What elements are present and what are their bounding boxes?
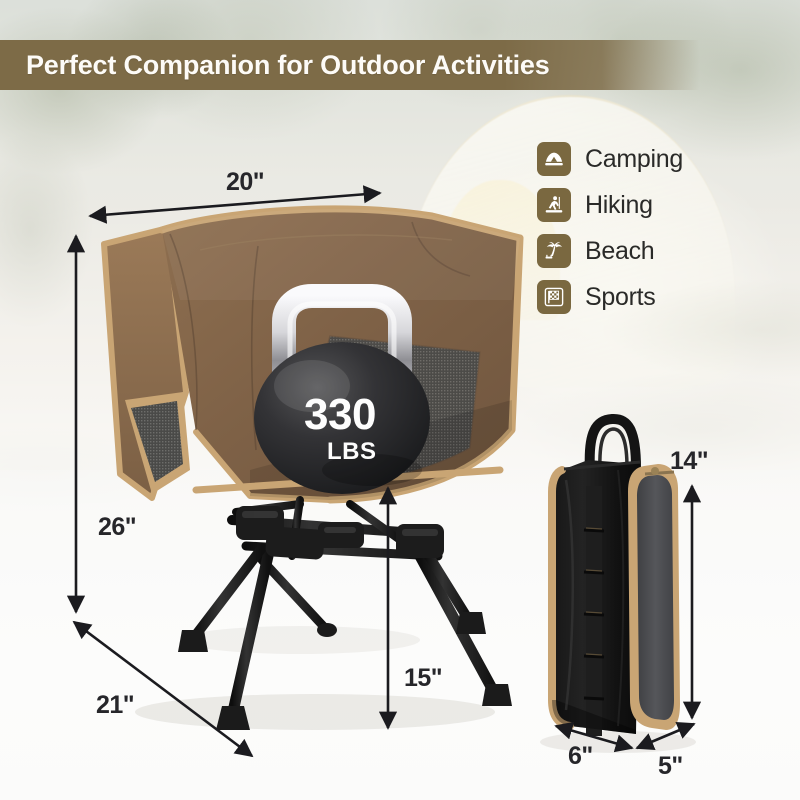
dimension-label-seat-height: 15" (404, 664, 442, 693)
dimension-label-chair-height: 26" (98, 513, 136, 542)
dimension-label-chair-width: 20" (226, 168, 264, 197)
dimension-label-bag-height: 14" (670, 447, 708, 476)
dimension-label-bag-width: 6" (568, 742, 593, 771)
dimension-label-bag-depth: 5" (658, 752, 683, 781)
dimension-label-chair-depth: 21" (96, 691, 134, 720)
product-infographic: Perfect Companion for Outdoor Activities… (0, 0, 800, 800)
carry-bag-product-image (0, 0, 800, 800)
